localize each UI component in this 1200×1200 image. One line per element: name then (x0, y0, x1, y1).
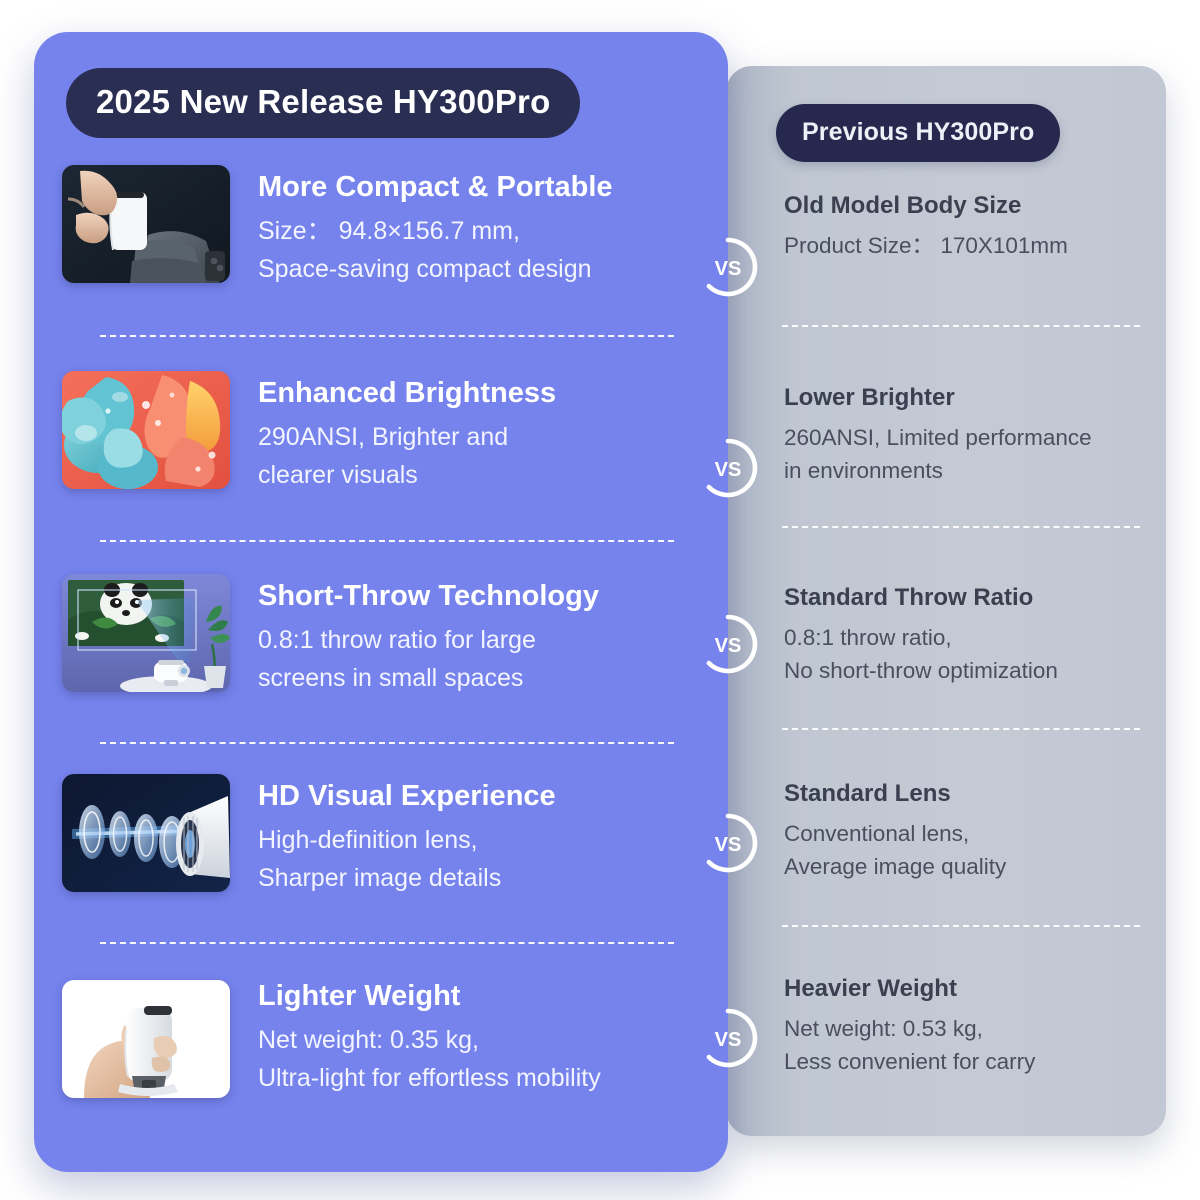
old-row-lens: Standard Lens Conventional lens, Average… (784, 780, 1166, 883)
new-row-line: 290ANSI, Brighter and (258, 418, 710, 456)
old-row-title: Heavier Weight (784, 975, 1166, 1003)
old-row-title: Old Model Body Size (784, 192, 1166, 220)
old-row-line: Net weight: 0.53 kg, (784, 1012, 1166, 1045)
old-row-line: in environments (784, 454, 1166, 487)
new-model-badge: 2025 New Release HY300Pro (66, 68, 580, 138)
new-row-line: Space-saving compact design (258, 250, 710, 288)
new-row-line: 0.8:1 throw ratio for large (258, 621, 710, 659)
previous-model-badge: Previous HY300Pro (776, 104, 1060, 162)
old-row-throw-ratio: Standard Throw Ratio 0.8:1 throw ratio, … (784, 584, 1166, 687)
new-row-line: Sharper image details (258, 859, 710, 897)
new-row-line: clearer visuals (258, 456, 710, 494)
new-row-text: Lighter Weight Net weight: 0.35 kg, Ultr… (258, 980, 710, 1097)
svg-text:VS: VS (715, 834, 742, 856)
new-row-title: HD Visual Experience (258, 780, 710, 812)
hand-holding-projector-photo (62, 980, 230, 1098)
new-row-title: Short-Throw Technology (258, 580, 710, 612)
old-row-title: Standard Lens (784, 780, 1166, 808)
new-row-short-throw: Short-Throw Technology 0.8:1 throw ratio… (34, 574, 728, 724)
old-row-body-size: Old Model Body Size Product Size： 170X10… (784, 192, 1166, 262)
new-row-lighter-weight: Lighter Weight Net weight: 0.35 kg, Ultr… (34, 974, 728, 1124)
svg-text:VS: VS (715, 635, 742, 657)
old-row-line: Conventional lens, (784, 817, 1166, 850)
vs-badge-5: VS (697, 1007, 759, 1069)
svg-text:VS: VS (715, 1029, 742, 1051)
new-model-panel: 2025 New Release HY300Pro (34, 32, 728, 1172)
new-row-text: Short-Throw Technology 0.8:1 throw ratio… (258, 580, 710, 697)
new-divider (100, 335, 674, 337)
previous-model-panel-inner: Previous HY300Pro Old Model Body Size Pr… (726, 66, 1166, 1136)
new-row-text: HD Visual Experience High-definition len… (258, 780, 710, 897)
old-row-line: Average image quality (784, 850, 1166, 883)
old-row-weight: Heavier Weight Net weight: 0.53 kg, Less… (784, 975, 1166, 1078)
projector-in-backpack-photo (62, 165, 230, 283)
old-divider (782, 728, 1140, 730)
new-divider (100, 942, 674, 944)
new-row-line: High-definition lens, (258, 821, 710, 859)
vs-badge-4: VS (697, 812, 759, 874)
old-divider (782, 925, 1140, 927)
vs-badge-3: VS (697, 613, 759, 675)
old-row-line: Less convenient for carry (784, 1045, 1166, 1078)
new-row-title: More Compact & Portable (258, 171, 710, 203)
new-row-text: Enhanced Brightness 290ANSI, Brighter an… (258, 377, 710, 494)
old-row-title: Standard Throw Ratio (784, 584, 1166, 612)
old-row-line: Product Size： 170X101mm (784, 229, 1166, 262)
old-row-title: Lower Brighter (784, 384, 1166, 412)
new-row-line: Ultra-light for effortless mobility (258, 1059, 710, 1097)
new-row-title: Enhanced Brightness (258, 377, 710, 409)
old-divider (782, 526, 1140, 528)
old-row-line: 0.8:1 throw ratio, (784, 621, 1166, 654)
colorful-glossy-flowers-photo (62, 371, 230, 489)
svg-text:VS: VS (715, 258, 742, 280)
new-divider (100, 540, 674, 542)
comparison-infographic: Previous HY300Pro Old Model Body Size Pr… (0, 0, 1200, 1200)
new-row-line: Net weight: 0.35 kg, (258, 1021, 710, 1059)
projector-panda-projection-photo (62, 574, 230, 692)
new-row-line: screens in small spaces (258, 659, 710, 697)
vs-badge-2: VS (697, 437, 759, 499)
previous-model-panel: Previous HY300Pro Old Model Body Size Pr… (726, 66, 1166, 1136)
new-divider (100, 742, 674, 744)
new-row-title: Lighter Weight (258, 980, 710, 1012)
vs-badge-1: VS (697, 236, 759, 298)
new-row-hd-visual: HD Visual Experience High-definition len… (34, 774, 728, 924)
old-row-line: No short-throw optimization (784, 654, 1166, 687)
old-divider (782, 325, 1140, 327)
exploded-lens-elements-photo (62, 774, 230, 892)
old-row-brightness: Lower Brighter 260ANSI, Limited performa… (784, 384, 1166, 487)
old-row-line: 260ANSI, Limited performance (784, 421, 1166, 454)
new-row-line: Size： 94.8×156.7 mm, (258, 212, 710, 250)
svg-text:VS: VS (715, 459, 742, 481)
new-row-text: More Compact & Portable Size： 94.8×156.7… (258, 171, 710, 288)
new-row-brightness: Enhanced Brightness 290ANSI, Brighter an… (34, 371, 728, 521)
new-row-compact: More Compact & Portable Size： 94.8×156.7… (34, 165, 728, 315)
